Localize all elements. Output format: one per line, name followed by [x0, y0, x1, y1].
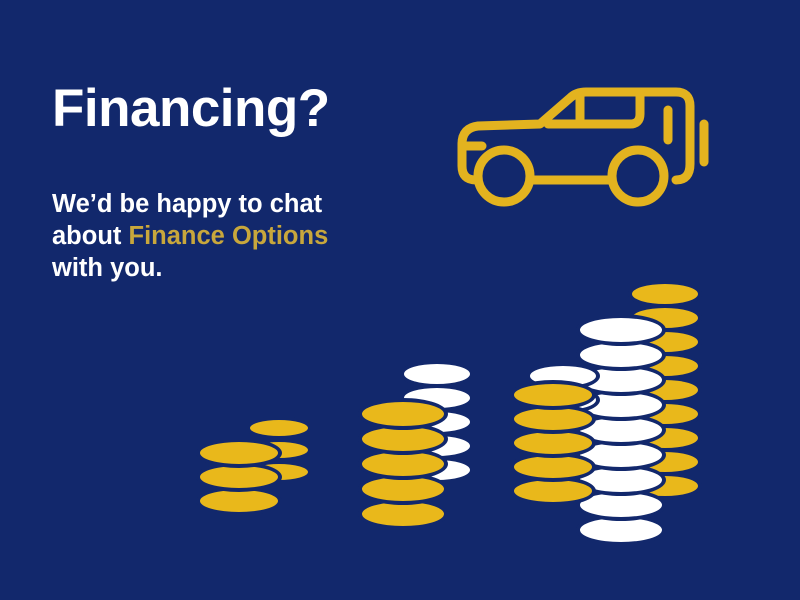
- coin: [510, 380, 596, 410]
- g3-mid-white: [576, 314, 666, 546]
- g3-left-gold: [510, 380, 596, 506]
- coin: [576, 314, 666, 346]
- coin-group-3: [510, 280, 710, 508]
- body-copy: We’d be happy to chat about Finance Opti…: [52, 188, 328, 284]
- page-title: Financing?: [52, 82, 330, 135]
- coin: [628, 280, 702, 308]
- car-side-outline-icon: [452, 84, 712, 214]
- coin: [196, 438, 282, 468]
- finance-options-highlight: Finance Options: [129, 222, 329, 250]
- coin: [358, 398, 448, 430]
- body-copy-line-2-prefix: about: [52, 222, 129, 250]
- body-copy-line-3: with you.: [52, 252, 328, 284]
- promo-canvas: Financing? We’d be happy to chat about F…: [0, 0, 800, 600]
- g1-front-gold: [196, 438, 282, 516]
- coin: [246, 416, 312, 440]
- body-copy-line-2: about Finance Options: [52, 220, 328, 252]
- body-copy-line-1: We’d be happy to chat: [52, 188, 328, 220]
- g2-front-gold: [358, 398, 448, 530]
- coin: [400, 360, 474, 388]
